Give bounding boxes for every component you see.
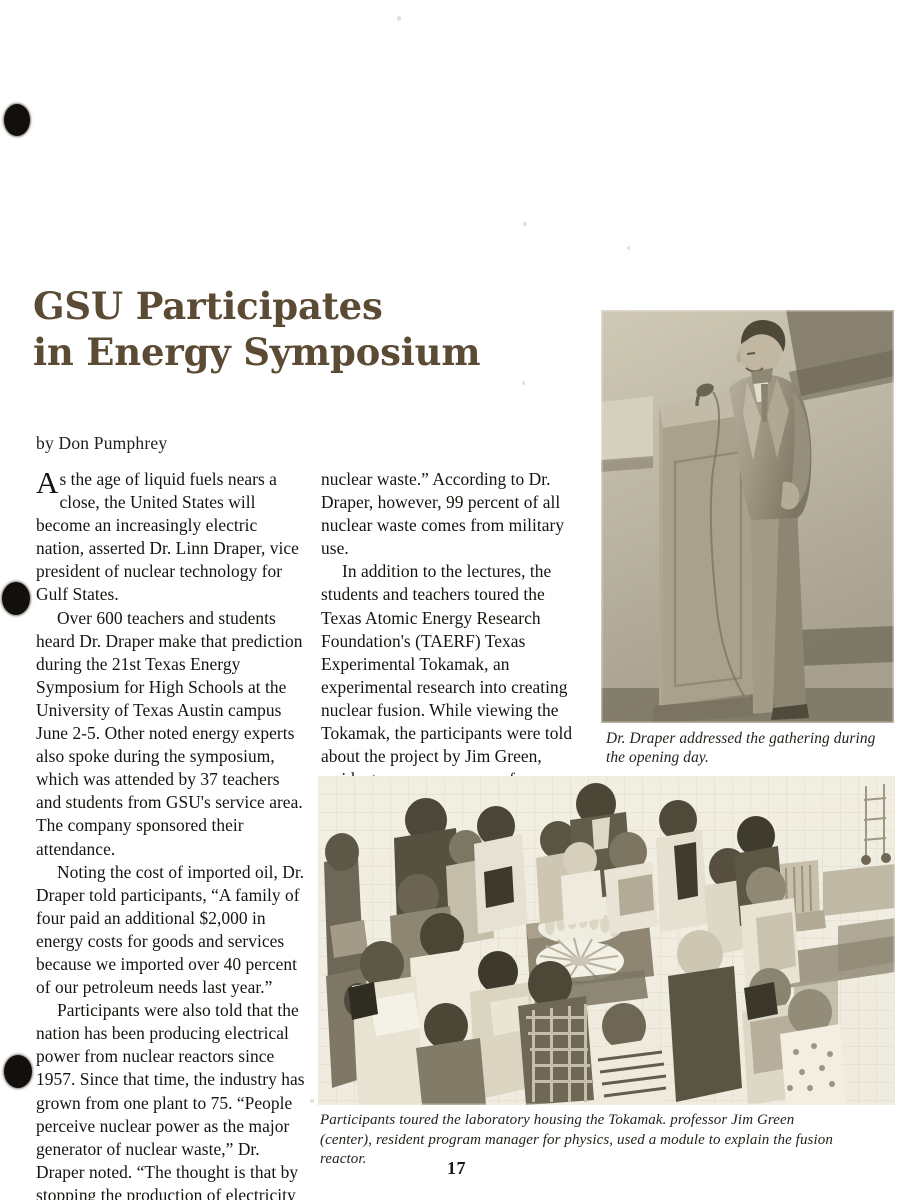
paragraph: As the age of liquid fuels nears a close… <box>36 468 308 607</box>
paragraph: Noting the cost of imported oil, Dr. Dra… <box>36 861 308 1000</box>
photo-caption-top: Dr. Draper addressed the gathering durin… <box>606 729 898 768</box>
drop-cap: A <box>36 468 59 496</box>
headline-line-2: in Energy Symposium <box>33 329 573 375</box>
scan-speck <box>397 16 401 21</box>
body-column-left: As the age of liquid fuels nears a close… <box>36 468 308 1200</box>
headline-line-1: GSU Participates <box>33 284 383 328</box>
binder-hole-punch-icon <box>4 1055 32 1088</box>
binder-hole-punch-icon <box>2 582 30 615</box>
photo-tokamak-laboratory-tour <box>318 776 895 1105</box>
photo-speaker-at-podium <box>601 310 894 723</box>
byline: by Don Pumphrey <box>36 433 316 454</box>
paragraph: nuclear waste.” According to Dr. Draper,… <box>321 468 585 560</box>
binder-hole-punch-icon <box>4 104 30 136</box>
paragraph: Over 600 teachers and students heard Dr.… <box>36 607 308 861</box>
magazine-page: GSU Participates in Energy Symposium by … <box>0 0 913 1200</box>
paragraph-text: s the age of liquid fuels nears a close,… <box>36 469 299 604</box>
page-number: 17 <box>0 1158 913 1179</box>
scan-speck <box>523 222 527 226</box>
scan-speck <box>627 246 630 250</box>
scan-speck <box>522 381 525 385</box>
scan-speck <box>310 1099 314 1103</box>
body-column-right: nuclear waste.” According to Dr. Draper,… <box>321 468 585 814</box>
page-title: GSU Participates in Energy Symposium <box>33 283 573 375</box>
